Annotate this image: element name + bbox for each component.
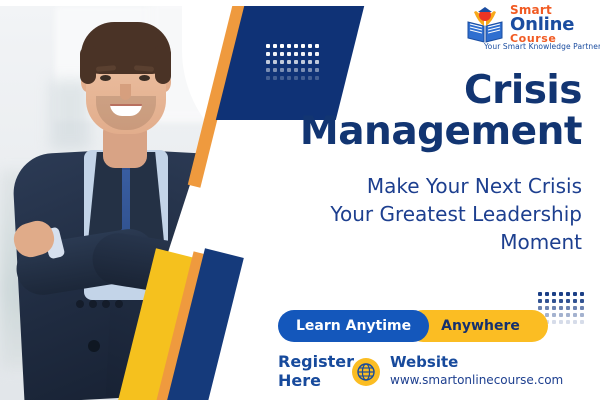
subtitle-line-3: Moment	[272, 228, 582, 256]
register-line-2: Here	[278, 371, 354, 390]
hair-side-left	[80, 46, 96, 84]
eye-right	[139, 75, 150, 81]
logo-wordmark: Smart Online Course	[510, 5, 574, 44]
website-info[interactable]: Website www.smartonlinecourse.com	[390, 354, 563, 388]
logo-text-online: Online	[510, 16, 574, 33]
marketing-banner: Smart Online Course Your Smart Knowledge…	[0, 0, 600, 400]
register-line-1: Register	[278, 352, 354, 371]
website-url[interactable]: www.smartonlinecourse.com	[390, 372, 563, 388]
eye-left	[100, 75, 111, 81]
register-here-label: Register Here	[278, 352, 354, 390]
brand-logo[interactable]: Smart Online Course Your Smart Knowledge…	[462, 4, 596, 50]
subtitle: Make Your Next Crisis Your Greatest Lead…	[272, 172, 582, 256]
badge-learn-anytime[interactable]: Learn Anytime	[278, 310, 429, 342]
learn-anytime-anywhere-badge: Learn Anytime Anywhere	[278, 310, 548, 342]
subtitle-line-2: Your Greatest Leadership	[272, 200, 582, 228]
book-person-logo-icon	[462, 6, 508, 46]
logo-tagline: Your Smart Knowledge Partner	[484, 42, 600, 51]
jacket-button	[88, 340, 100, 352]
nose	[120, 84, 131, 100]
sleeve-buttons	[76, 300, 132, 310]
page-title: Crisis Management	[162, 70, 582, 152]
website-label: Website	[390, 354, 563, 371]
headline-line-2: Management	[162, 111, 582, 152]
subtitle-line-1: Make Your Next Crisis	[272, 172, 582, 200]
globe-icon	[352, 358, 380, 386]
headline-line-1: Crisis	[162, 70, 582, 111]
